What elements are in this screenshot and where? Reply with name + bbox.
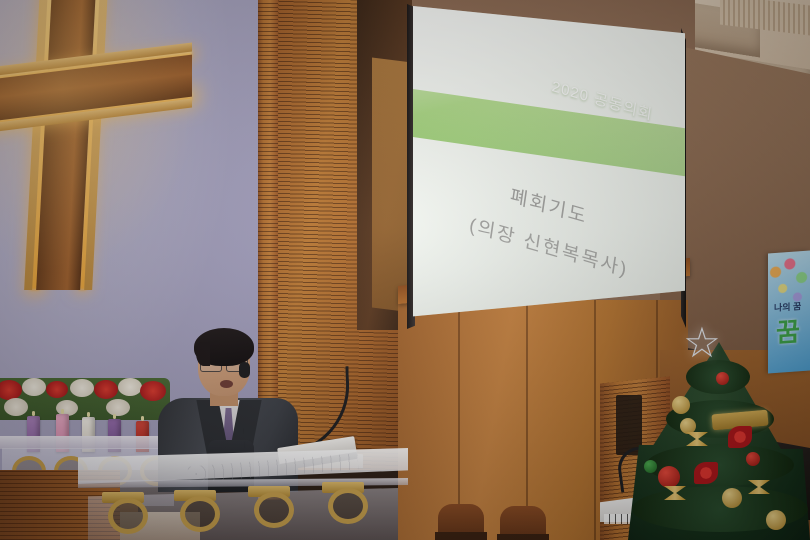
banner-line-2: 꿈: [776, 311, 800, 350]
red-poinsettia: [694, 462, 718, 484]
acrylic-pulpit: [78, 448, 408, 540]
candle-wick: [87, 412, 90, 417]
pulpit-gold-ring: [108, 498, 148, 534]
gold-ornament: [766, 510, 786, 530]
chair: [435, 532, 487, 540]
microphone-capsule: [239, 362, 250, 378]
green-ornament: [644, 460, 657, 473]
panel-seam: [594, 300, 596, 540]
candle-wick: [141, 416, 144, 421]
candle-wick: [61, 409, 64, 414]
chair: [497, 534, 549, 540]
red-ornament: [658, 466, 680, 488]
vision-banner: 나의 꿈 꿈: [768, 251, 810, 374]
star-topper-icon: ☆: [680, 322, 724, 366]
recess-lit-panel: [372, 58, 412, 313]
white-flower: [106, 399, 130, 416]
pulpit-gold-ring: [180, 496, 220, 532]
gold-ornament: [680, 418, 696, 434]
presentation-screen[interactable]: 2020 공동의회 폐회기도 (의장 신현복목사): [413, 6, 685, 326]
red-poinsettia: [728, 426, 752, 448]
white-flower: [22, 378, 46, 396]
gold-ornament: [672, 396, 690, 414]
red-ornament: [716, 372, 729, 385]
red-flower: [94, 380, 118, 399]
white-flower: [70, 379, 94, 397]
pulpit-gold-ring: [254, 492, 294, 528]
red-flower: [46, 381, 68, 398]
hair: [194, 328, 254, 366]
panel-seam: [526, 300, 528, 540]
pulpit-gold-ring: [328, 488, 368, 524]
illuminated-wooden-cross: [0, 0, 218, 290]
white-flower: [4, 398, 28, 416]
sanctuary-photo: 2020 공동의회 폐회기도 (의장 신현복목사): [0, 0, 810, 540]
candle-wick: [113, 414, 116, 419]
mouth: [220, 380, 233, 388]
candle-wick: [32, 411, 35, 416]
red-ornament: [746, 452, 760, 466]
gold-ornament: [722, 488, 742, 508]
screen-sheen: [413, 6, 685, 326]
white-flower: [118, 378, 142, 396]
